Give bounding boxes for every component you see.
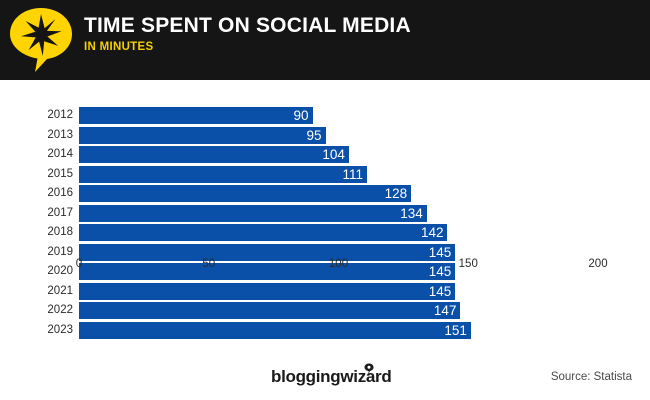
- bar-category-label: 2014: [0, 146, 73, 163]
- page-title: TIME SPENT ON SOCIAL MEDIA: [84, 13, 411, 38]
- bar-value-label: 111: [79, 166, 367, 183]
- chart-footer: bloggingwizard Source: Statista: [0, 362, 650, 400]
- bar-value-label: 145: [79, 283, 455, 300]
- speech-bubble-dot-icon: [364, 363, 374, 375]
- bar-category-label: 2015: [0, 166, 73, 183]
- bar-value-label: 104: [79, 146, 349, 163]
- bar-category-label: 2022: [0, 302, 73, 319]
- bar-chart-plot: 2012902013952014104201511120161282017134…: [0, 80, 650, 355]
- x-axis-tick-label: 100: [329, 258, 348, 270]
- bar-row: 2016128: [0, 185, 650, 202]
- x-axis-tick-label: 150: [459, 258, 478, 270]
- x-axis-tick-label: 0: [76, 258, 82, 270]
- bar-row: 2017134: [0, 205, 650, 222]
- x-axis-tick-label: 50: [202, 258, 215, 270]
- x-axis-tick-label: 200: [588, 258, 607, 270]
- speech-bubble-star-icon: [8, 6, 74, 74]
- page-subtitle: IN MINUTES: [84, 40, 411, 55]
- bar-category-label: 2017: [0, 205, 73, 222]
- bar-row: 2015111: [0, 166, 650, 183]
- bar-row: 2022147: [0, 302, 650, 319]
- bar-row: 2018142: [0, 224, 650, 241]
- x-axis: 050100150200: [0, 258, 650, 282]
- bar-row: 2021145: [0, 283, 650, 300]
- chart-header: TIME SPENT ON SOCIAL MEDIA IN MINUTES: [0, 0, 650, 80]
- bar-category-label: 2018: [0, 224, 73, 241]
- chart-canvas: TIME SPENT ON SOCIAL MEDIA IN MINUTES 20…: [0, 0, 650, 400]
- source-attribution: Source: Statista: [551, 371, 632, 383]
- bar-value-label: 151: [79, 322, 471, 339]
- bar-category-label: 2013: [0, 127, 73, 144]
- bar-row: 2014104: [0, 146, 650, 163]
- bar-value-label: 134: [79, 205, 427, 222]
- bar-category-label: 2016: [0, 185, 73, 202]
- bar-category-label: 2023: [0, 322, 73, 339]
- header-text-block: TIME SPENT ON SOCIAL MEDIA IN MINUTES: [84, 13, 411, 55]
- bar-category-label: 2012: [0, 107, 73, 124]
- bar-row: 201290: [0, 107, 650, 124]
- bar-value-label: 128: [79, 185, 411, 202]
- bar-row: 201395: [0, 127, 650, 144]
- bar-row: 2023151: [0, 322, 650, 339]
- bar-value-label: 147: [79, 302, 460, 319]
- bar-category-label: 2021: [0, 283, 73, 300]
- bar-value-label: 142: [79, 224, 447, 241]
- bar-value-label: 90: [79, 107, 313, 124]
- bar-value-label: 95: [79, 127, 326, 144]
